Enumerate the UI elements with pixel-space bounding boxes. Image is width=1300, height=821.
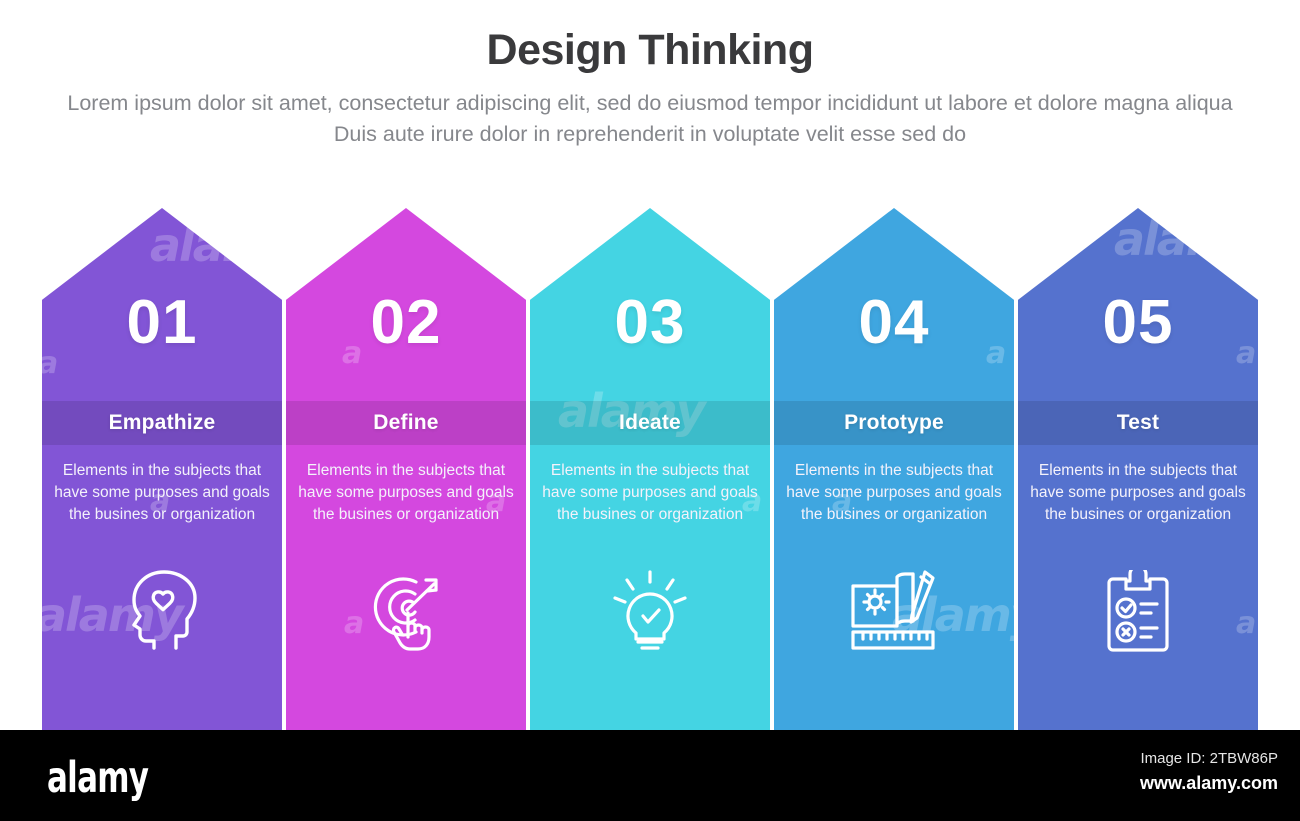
step-label-band-04: Prototype [774,401,1014,445]
blueprint-icon [849,570,939,652]
step-number-02: 02 [286,292,526,354]
alamy-logo: alamy [47,753,148,803]
step-number-01: 01 [42,292,282,354]
image-id-label: Image ID: 2TBW86P [1140,750,1278,767]
page-title: Design Thinking [0,26,1300,74]
step-card-01[interactable]: alamy a a alamy 01 Empathize Elements in… [42,208,282,730]
step-description-02: Elements in the subjects that have some … [298,460,514,526]
page-subtitle: Lorem ipsum dolor sit amet, consectetur … [60,88,1240,149]
step-label-01: Empathize [109,411,216,435]
step-icon-wrap-04 [774,570,1014,652]
head-heart-icon [126,570,198,654]
step-card-05[interactable]: alamy a a 05 Test Elements in the subjec… [1018,208,1258,730]
step-number-05: 05 [1018,292,1258,354]
step-card-03[interactable]: alamy a 03 Ideate Elements in the subjec… [530,208,770,730]
steps-container: alamy a a alamy 01 Empathize Elements in… [42,208,1258,730]
alamy-url-label: www.alamy.com [1140,773,1278,794]
step-label-band-01: Empathize [42,401,282,445]
lightbulb-icon [611,570,689,654]
step-label-03: Ideate [619,411,681,435]
footer-bar: alamy Image ID: 2TBW86P www.alamy.com [0,730,1300,821]
step-description-05: Elements in the subjects that have some … [1030,460,1246,526]
step-description-01: Elements in the subjects that have some … [54,460,270,526]
step-card-02[interactable]: a a a 02 Define Elements in the subjects… [286,208,526,730]
step-icon-wrap-02 [286,570,526,652]
step-number-04: 04 [774,292,1014,354]
step-label-band-02: Define [286,401,526,445]
step-icon-wrap-03 [530,570,770,654]
step-description-03: Elements in the subjects that have some … [542,460,758,526]
infographic-canvas: Design Thinking Lorem ipsum dolor sit am… [0,0,1300,821]
step-number-03: 03 [530,292,770,354]
step-label-04: Prototype [844,411,944,435]
clipboard-check-icon [1103,570,1173,654]
step-label-band-05: Test [1018,401,1258,445]
target-hand-icon [364,570,448,652]
step-icon-wrap-01 [42,570,282,654]
step-label-02: Define [373,411,438,435]
header: Design Thinking Lorem ipsum dolor sit am… [0,0,1300,149]
step-description-04: Elements in the subjects that have some … [786,460,1002,526]
step-label-05: Test [1117,411,1159,435]
step-label-band-03: Ideate [530,401,770,445]
step-icon-wrap-05 [1018,570,1258,654]
step-card-04[interactable]: a a alamy 04 Prototype Elements in the s… [774,208,1014,730]
